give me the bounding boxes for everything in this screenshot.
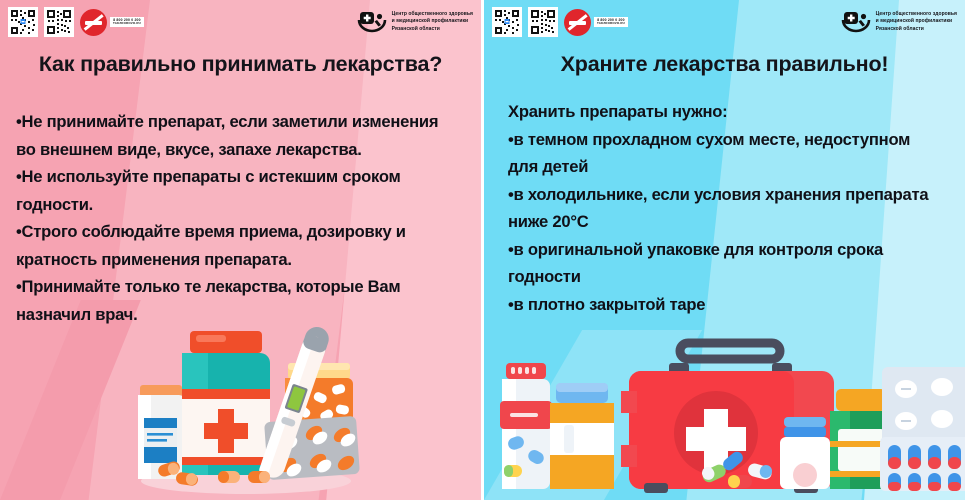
header-badges: 8 800 200 0 200 TAKZDOROVO.RU bbox=[492, 7, 628, 37]
hotline-badge[interactable]: 8 800 200 0 200 TAKZDOROVO.RU bbox=[80, 9, 144, 36]
body-line: ниже 20°C bbox=[508, 208, 953, 236]
organization-logo: Центр общественного здоровья и медицинск… bbox=[841, 7, 957, 37]
body-line: •в темном прохладном сухом месте, недост… bbox=[508, 126, 953, 154]
body-line: •Принимайте только те лекарства, которые… bbox=[16, 273, 467, 301]
organization-name: Центр общественного здоровья и медицинск… bbox=[876, 11, 957, 34]
poster-pair: 8 800 200 0 200 TAKZDOROVO.RU bbox=[0, 0, 965, 500]
qr-code-site-icon[interactable] bbox=[44, 7, 74, 37]
logo-line-3: Рязанской области bbox=[876, 26, 957, 34]
body-line: •Не используйте препараты с истекшим сро… bbox=[16, 163, 467, 191]
organization-name: Центр общественного здоровья и медицинск… bbox=[392, 11, 473, 34]
hotline-site: TAKZDOROVO.RU bbox=[113, 22, 141, 25]
page-title: Как правильно принимать лекарства? bbox=[0, 52, 481, 77]
body-line: для детей bbox=[508, 153, 953, 181]
hotline-number: 8 800 200 0 200 TAKZDOROVO.RU bbox=[110, 17, 144, 28]
no-smoking-icon bbox=[564, 9, 591, 36]
body-line: •в оригинальной упаковке для контроля ср… bbox=[508, 236, 953, 264]
first-aid-kit-illustration bbox=[484, 325, 965, 500]
qr-code-site-icon[interactable] bbox=[528, 7, 558, 37]
poster-header: 8 800 200 0 200 TAKZDOROVO.RU bbox=[0, 0, 481, 44]
logo-line-2: и медицинской профилактики bbox=[392, 18, 473, 26]
health-center-logo-icon bbox=[841, 7, 871, 37]
poster-body-text: •Не принимайте препарат, если заметили и… bbox=[16, 108, 467, 328]
body-line: назначил врач. bbox=[16, 301, 467, 329]
qr-code-vk-icon[interactable] bbox=[8, 7, 38, 37]
body-line: годности. bbox=[16, 191, 467, 219]
no-smoking-icon bbox=[80, 9, 107, 36]
hotline-badge[interactable]: 8 800 200 0 200 TAKZDOROVO.RU bbox=[564, 9, 628, 36]
header-badges: 8 800 200 0 200 TAKZDOROVO.RU bbox=[8, 7, 144, 37]
logo-line-3: Рязанской области bbox=[392, 26, 473, 34]
hotline-number: 8 800 200 0 200 TAKZDOROVO.RU bbox=[594, 17, 628, 28]
logo-line-2: и медицинской профилактики bbox=[876, 18, 957, 26]
body-line: •в холодильнике, если условия хранения п… bbox=[508, 181, 953, 209]
poster-header: 8 800 200 0 200 TAKZDOROVO.RU bbox=[484, 0, 965, 44]
hotline-site: TAKZDOROVO.RU bbox=[597, 22, 625, 25]
body-line: кратность применения препарата. bbox=[16, 246, 467, 274]
poster-body-text: Хранить препараты нужно: •в темном прохл… bbox=[508, 98, 953, 318]
medicines-illustration bbox=[118, 323, 368, 498]
page-title: Храните лекарства правильно! bbox=[484, 52, 965, 77]
body-line: •в плотно закрытой таре bbox=[508, 291, 953, 319]
qr-code-vk-icon[interactable] bbox=[492, 7, 522, 37]
body-line: Хранить препараты нужно: bbox=[508, 98, 953, 126]
body-line: во внешнем виде, вкусе, запахе лекарства… bbox=[16, 136, 467, 164]
poster-medication-intake: 8 800 200 0 200 TAKZDOROVO.RU bbox=[0, 0, 481, 500]
body-line: •Строго соблюдайте время приема, дозиров… bbox=[16, 218, 467, 246]
body-line: •Не принимайте препарат, если заметили и… bbox=[16, 108, 467, 136]
health-center-logo-icon bbox=[357, 7, 387, 37]
body-line: годности bbox=[508, 263, 953, 291]
organization-logo: Центр общественного здоровья и медицинск… bbox=[357, 7, 473, 37]
poster-medication-storage: 8 800 200 0 200 TAKZDOROVO.RU bbox=[484, 0, 965, 500]
